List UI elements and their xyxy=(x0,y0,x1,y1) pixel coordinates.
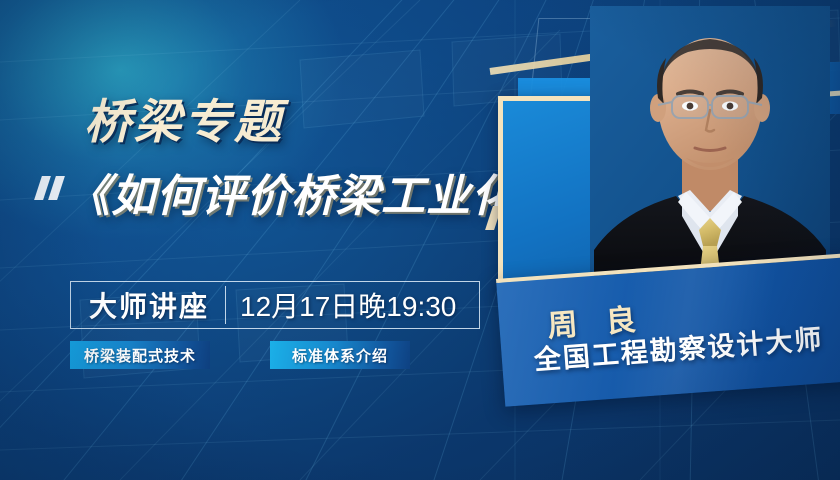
topic-tag-1: 桥梁装配式技术 xyxy=(70,341,210,369)
poster-canvas: 桥梁专题 《如何评价桥梁工业化》 大师讲座 12月17日晚19:30 桥梁装配式… xyxy=(0,0,840,480)
topic-tag-2: 标准体系介绍 xyxy=(270,341,410,369)
datetime-label: 12月17日晚19:30 xyxy=(240,285,456,325)
quote-open-icon-2 xyxy=(48,176,65,200)
series-label: 大师讲座 xyxy=(89,285,209,325)
page-title: 桥梁专题 xyxy=(84,98,284,145)
speaker-name-panel: 周 良 全国工程勘察设计大师 xyxy=(496,253,840,406)
series-label-cell: 大师讲座 xyxy=(71,282,225,328)
portrait-composition xyxy=(470,0,840,480)
lecture-info-box: 大师讲座 12月17日晚19:30 xyxy=(70,281,480,329)
datetime-cell: 12月17日晚19:30 xyxy=(226,282,466,328)
